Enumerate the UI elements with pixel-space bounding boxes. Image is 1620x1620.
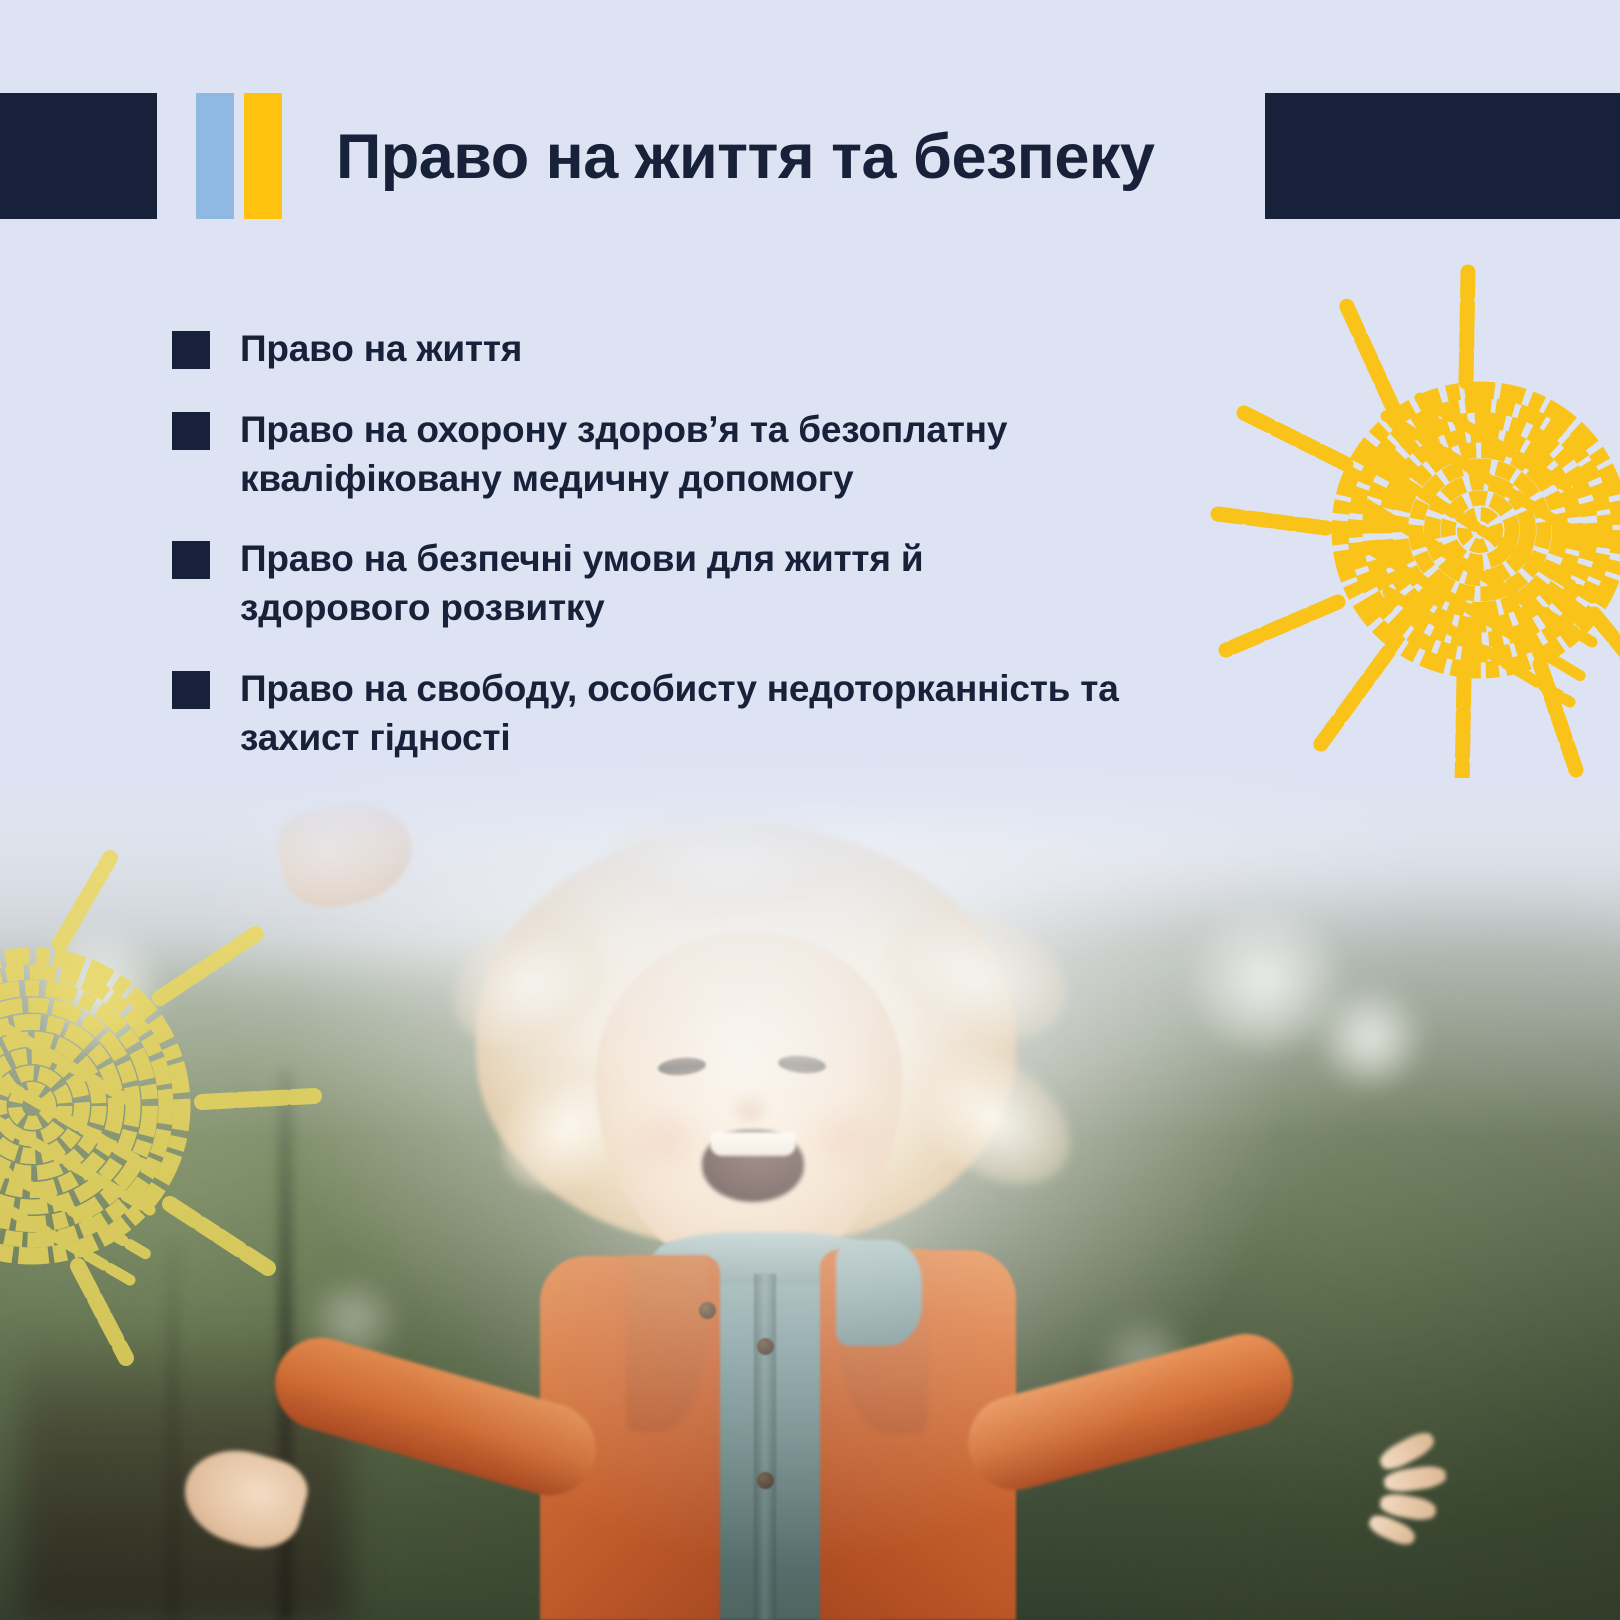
shirt-button [757,1338,774,1355]
square-bullet-icon [172,671,210,709]
square-bullet-icon [172,541,210,579]
page-title: Право на життя та безпеку [336,112,1236,202]
list-item-label: Право на життя [240,325,522,374]
list-item-label: Право на охорону здоров’я та безоплатну … [240,406,1090,504]
list-item: Право на життя [172,325,1212,374]
header-dark-block-left [0,93,157,219]
list-item-label: Право на безпечні умови для життя й здор… [240,535,1000,633]
square-bullet-icon [172,412,210,450]
crayon-sun-right [1180,258,1620,778]
shirt-button [757,1472,774,1489]
list-item: Право на охорону здоров’я та безоплатну … [172,406,1212,504]
hero-photo [0,760,1620,1620]
ukraine-flag-blue-bar [196,93,234,219]
rights-list: Право на життя Право на охорону здоров’я… [172,325,1212,763]
slide-canvas: Право на життя та безпеку Право на життя… [0,0,1620,1620]
list-item-label: Право на свободу, особисту недоторканніс… [240,665,1185,763]
child-shirt-placket [754,1274,776,1620]
list-item: Право на свободу, особисту недоторканніс… [172,665,1212,763]
square-bullet-icon [172,331,210,369]
child-collar-inner [836,1240,922,1346]
crayon-sun-right-svg [1180,258,1620,778]
header-dark-block-right [1265,93,1620,219]
crayon-sun-left-svg [0,838,350,1378]
crayon-sun-left [0,838,350,1378]
ukraine-flag-bars [196,93,282,219]
ukraine-flag-yellow-bar [244,93,282,219]
list-item: Право на безпечні умови для життя й здор… [172,535,1212,633]
shirt-button [699,1302,716,1319]
